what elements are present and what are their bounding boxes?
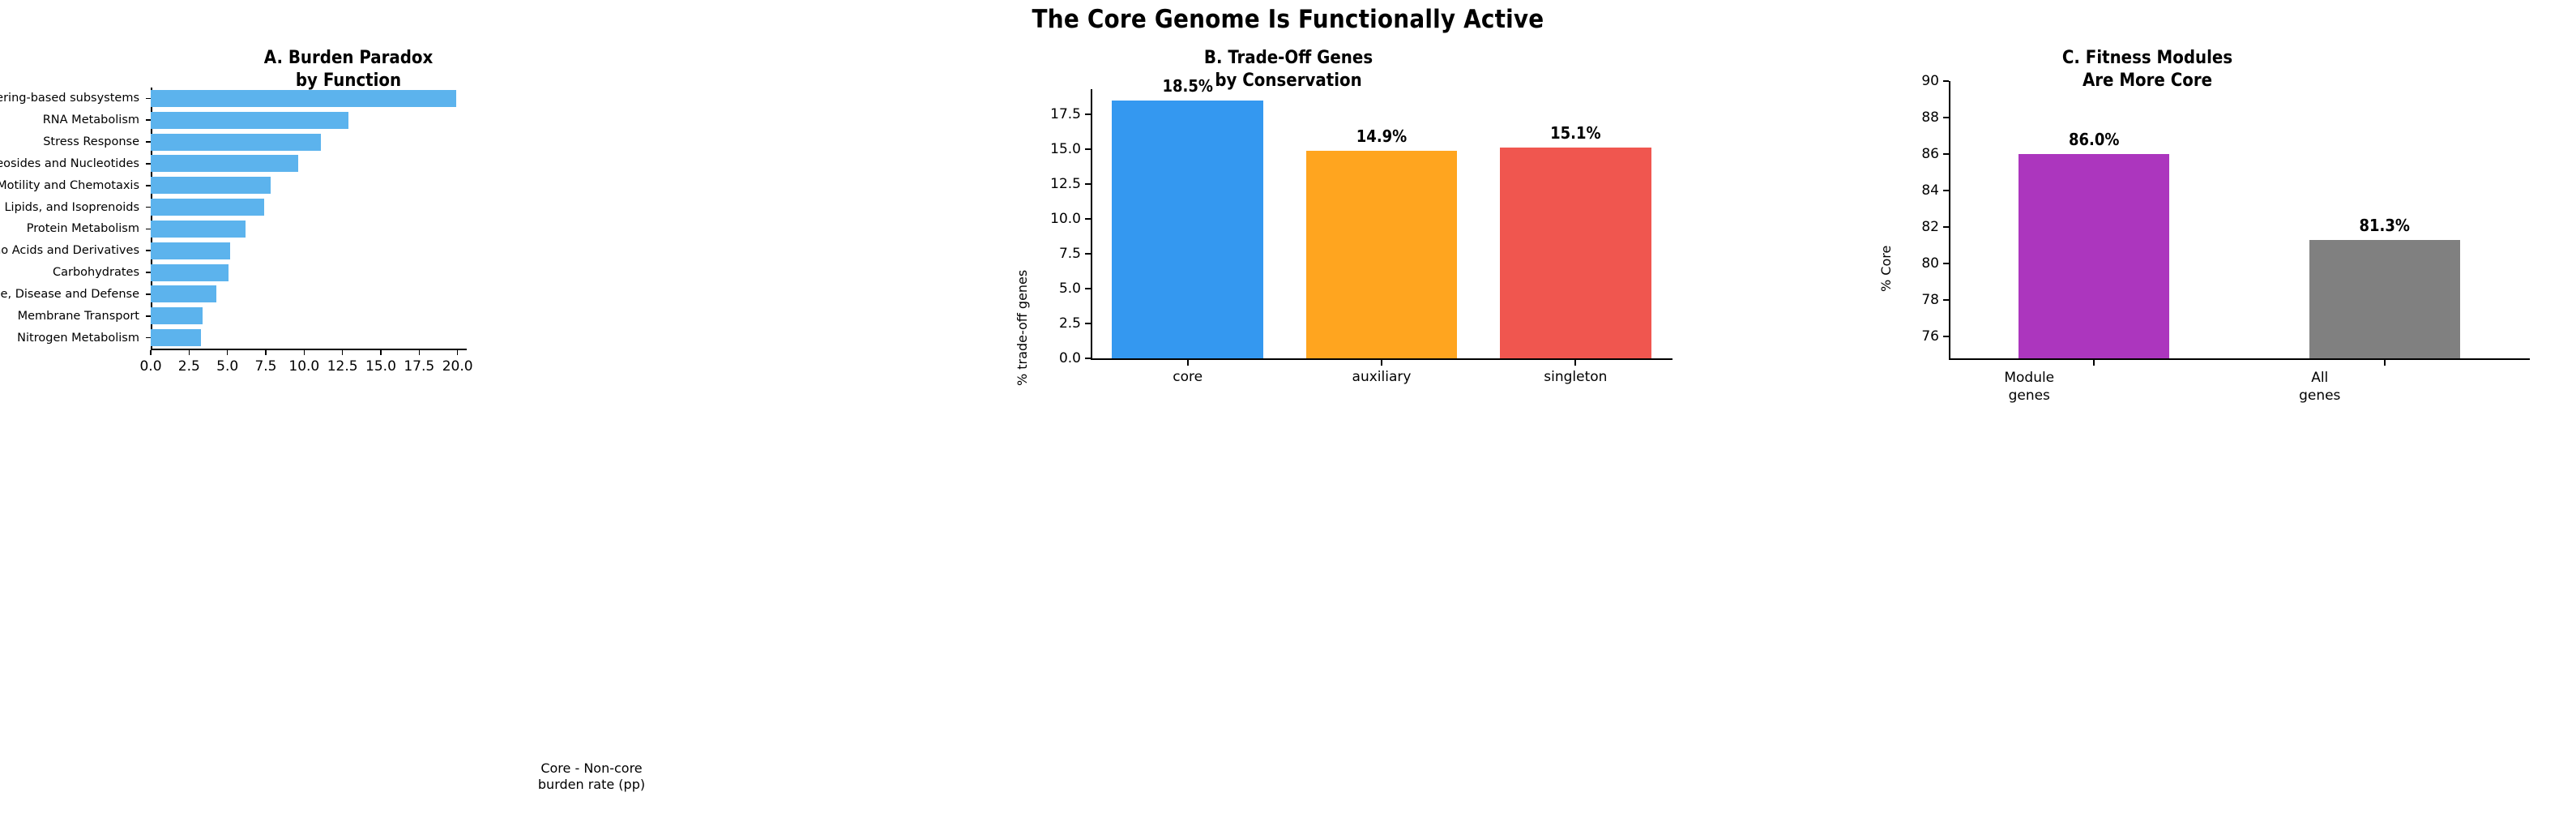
panel-b-y-tick-3 (1085, 253, 1091, 255)
panel-a-x-tick-label-0: 0.0 (139, 358, 161, 375)
panel-b-y-tick-label-2: 5.0 (1059, 281, 1081, 297)
panel-a-x-tick-7 (419, 350, 421, 355)
panel-b-title: B. Trade-Off Genes by Conservation (1005, 47, 1572, 92)
panel-c-x-tick-0 (2093, 360, 2095, 366)
panel-a-y-tick-7 (146, 250, 151, 251)
bar-0 (1112, 101, 1263, 358)
panel-c-y-tick-6 (1943, 117, 1949, 118)
panel-a-x-tick-4 (304, 350, 305, 355)
panel-a-y-tick-8 (146, 272, 151, 273)
panel-a-x-tick-label-3: 7.5 (254, 358, 276, 375)
panel-c-value-label-1: 81.3% (2309, 216, 2460, 235)
panel-c-y-tick-label-1: 78 (1921, 292, 1939, 308)
bar-0 (2019, 154, 2169, 358)
panel-b-y-tick-6 (1085, 148, 1091, 150)
bar-7 (151, 242, 230, 259)
bar-3 (151, 155, 298, 172)
panel-c-y-tick-7 (1943, 80, 1949, 82)
bar-9 (151, 285, 216, 302)
panel-b-y-tick-2 (1085, 288, 1091, 289)
panel-b-y-tick-4 (1085, 218, 1091, 220)
panel-c-x-tick-1 (2384, 360, 2386, 366)
panel-a-x-tick-6 (380, 350, 382, 355)
panel-c-y-axis-spine (1949, 81, 1950, 358)
panel-a-category-label-4: Motility and Chemotaxis (0, 179, 139, 192)
panel-b-y-tick-label-6: 15.0 (1050, 141, 1081, 157)
bar-5 (151, 199, 264, 216)
panel-a-x-tick-5 (342, 350, 344, 355)
panel-a-y-tick-5 (146, 207, 151, 208)
panel-c-y-tick-label-5: 86 (1921, 146, 1939, 162)
panel-b-y-tick-label-3: 7.5 (1059, 246, 1081, 262)
panel-c-y-axis-label-wrap: % Core (1864, 203, 1882, 316)
panel-a-y-tick-0 (146, 98, 151, 100)
panel-a-category-label-10: Membrane Transport (18, 310, 139, 323)
panel-a-x-tick-label-6: 15.0 (365, 358, 396, 375)
panel-b-x-tick-1 (1381, 360, 1382, 366)
panel-a-category-label-11: Nitrogen Metabolism (17, 332, 139, 345)
panel-b-y-tick-label-0: 0.0 (1059, 350, 1081, 366)
panel-a-x-axis-label: Core - Non-core burden rate (pp) (494, 760, 689, 793)
panel-c-y-tick-1 (1943, 299, 1949, 301)
panel-c-y-tick-label-0: 76 (1921, 328, 1939, 345)
bar-1 (1306, 151, 1458, 358)
bar-8 (151, 264, 229, 281)
panel-b-y-tick-0 (1085, 358, 1091, 359)
bar-1 (2309, 240, 2460, 358)
bar-6 (151, 221, 246, 238)
panel-c-x-axis-spine (1949, 358, 2530, 360)
panel-a-category-label-0: Clustering-based subsystems (0, 92, 139, 105)
panel-c-x-tick-label-0: Module genes (1964, 369, 2094, 405)
panel-b-y-axis-label-wrap: % trade-off genes (1000, 224, 1018, 386)
bar-2 (151, 134, 321, 151)
panel-b-y-tick-label-7: 17.5 (1050, 106, 1081, 122)
panel-a-y-tick-4 (146, 185, 151, 186)
panel-a-y-tick-11 (146, 337, 151, 339)
panel-a-x-tick-0 (150, 350, 152, 355)
panel-c-y-tick-label-3: 82 (1921, 219, 1939, 235)
panel-a-x-tick-label-2: 5.0 (216, 358, 238, 375)
panel-b-y-tick-label-5: 12.5 (1050, 176, 1081, 192)
panel-b-value-label-1: 14.9% (1306, 126, 1458, 146)
panel-a-category-label-5: Fatty Acids, Lipids, and Isoprenoids (0, 201, 139, 214)
panel-a-category-label-9: Virulence, Disease and Defense (0, 288, 139, 301)
panel-b-x-tick-2 (1574, 360, 1576, 366)
bar-4 (151, 177, 271, 194)
panel-a-category-label-2: Stress Response (43, 135, 139, 148)
panel-c-y-tick-0 (1943, 336, 1949, 337)
panel-c-y-tick-3 (1943, 226, 1949, 228)
panel-b-y-tick-label-1: 2.5 (1059, 315, 1081, 332)
panel-b-x-tick-label-1: auxiliary (1352, 369, 1412, 385)
panel-a-y-tick-10 (146, 315, 151, 317)
panel-b-y-axis-spine (1091, 89, 1092, 358)
panel-a-x-tick-3 (265, 350, 267, 355)
panel-c-y-tick-label-2: 80 (1921, 255, 1939, 272)
panel-a-x-tick-label-1: 2.5 (178, 358, 200, 375)
panel-a-category-label-8: Carbohydrates (53, 266, 139, 279)
panel-c-plot-area: 86.0%Module genes81.3%All genes767880828… (1949, 81, 2530, 358)
panel-a-title: A. Burden Paradox by Function (122, 47, 575, 92)
panel-b-x-tick-0 (1187, 360, 1189, 366)
panel-a-y-tick-3 (146, 163, 151, 165)
panel-c-y-tick-4 (1943, 190, 1949, 191)
bar-1 (151, 112, 348, 129)
panel-c-y-tick-label-4: 84 (1921, 182, 1939, 199)
panel-b-y-tick-5 (1085, 183, 1091, 185)
panel-a-x-tick-1 (189, 350, 190, 355)
panel-b-value-label-2: 15.1% (1500, 123, 1651, 143)
panel-a-category-label-6: Protein Metabolism (27, 222, 139, 235)
panel-a-x-tick-label-4: 10.0 (288, 358, 319, 375)
panel-c-y-tick-label-7: 90 (1921, 73, 1939, 89)
panel-c-y-tick-label-6: 88 (1921, 109, 1939, 126)
panel-a-category-label-7: Amino Acids and Derivatives (0, 244, 139, 257)
panel-a-category-label-1: RNA Metabolism (43, 114, 139, 126)
panel-b-x-tick-label-0: core (1173, 369, 1203, 385)
panel-a-x-tick-label-5: 12.5 (327, 358, 358, 375)
panel-b-y-tick-1 (1085, 323, 1091, 324)
panel-a-x-tick-label-8: 20.0 (442, 358, 473, 375)
panel-a-x-tick-8 (457, 350, 459, 355)
panel-c-y-tick-2 (1943, 263, 1949, 264)
panel-b-y-axis-label: % trade-off genes (1015, 270, 1030, 386)
bar-10 (151, 307, 203, 324)
bar-0 (151, 90, 456, 107)
bar-11 (151, 329, 201, 346)
panel-a-y-tick-2 (146, 141, 151, 143)
panel-c-x-tick-label-1: All genes (2255, 369, 2385, 405)
panel-a-plot-area: Clustering-based subsystemsRNA Metabolis… (151, 88, 467, 349)
panel-b-x-tick-label-2: singleton (1544, 369, 1607, 385)
panel-c-y-tick-5 (1943, 153, 1949, 155)
panel-a-category-label-3: Nucleosides and Nucleotides (0, 157, 139, 170)
panel-b-plot-area: 18.5%core14.9%auxiliary15.1%singleton0.0… (1091, 89, 1672, 358)
panel-a-x-tick-label-7: 17.5 (404, 358, 434, 375)
panel-a-y-tick-1 (146, 119, 151, 121)
panel-a-x-tick-2 (227, 350, 229, 355)
panel-c-value-label-0: 86.0% (2019, 130, 2169, 149)
panel-b-value-label-0: 18.5% (1112, 76, 1263, 96)
panel-b-y-tick-label-4: 10.0 (1050, 211, 1081, 227)
panel-b-y-tick-7 (1085, 114, 1091, 115)
bar-2 (1500, 148, 1651, 358)
panel-a-y-tick-6 (146, 229, 151, 230)
panel-a-y-tick-9 (146, 293, 151, 295)
panel-c-y-axis-label: % Core (1878, 246, 1894, 292)
